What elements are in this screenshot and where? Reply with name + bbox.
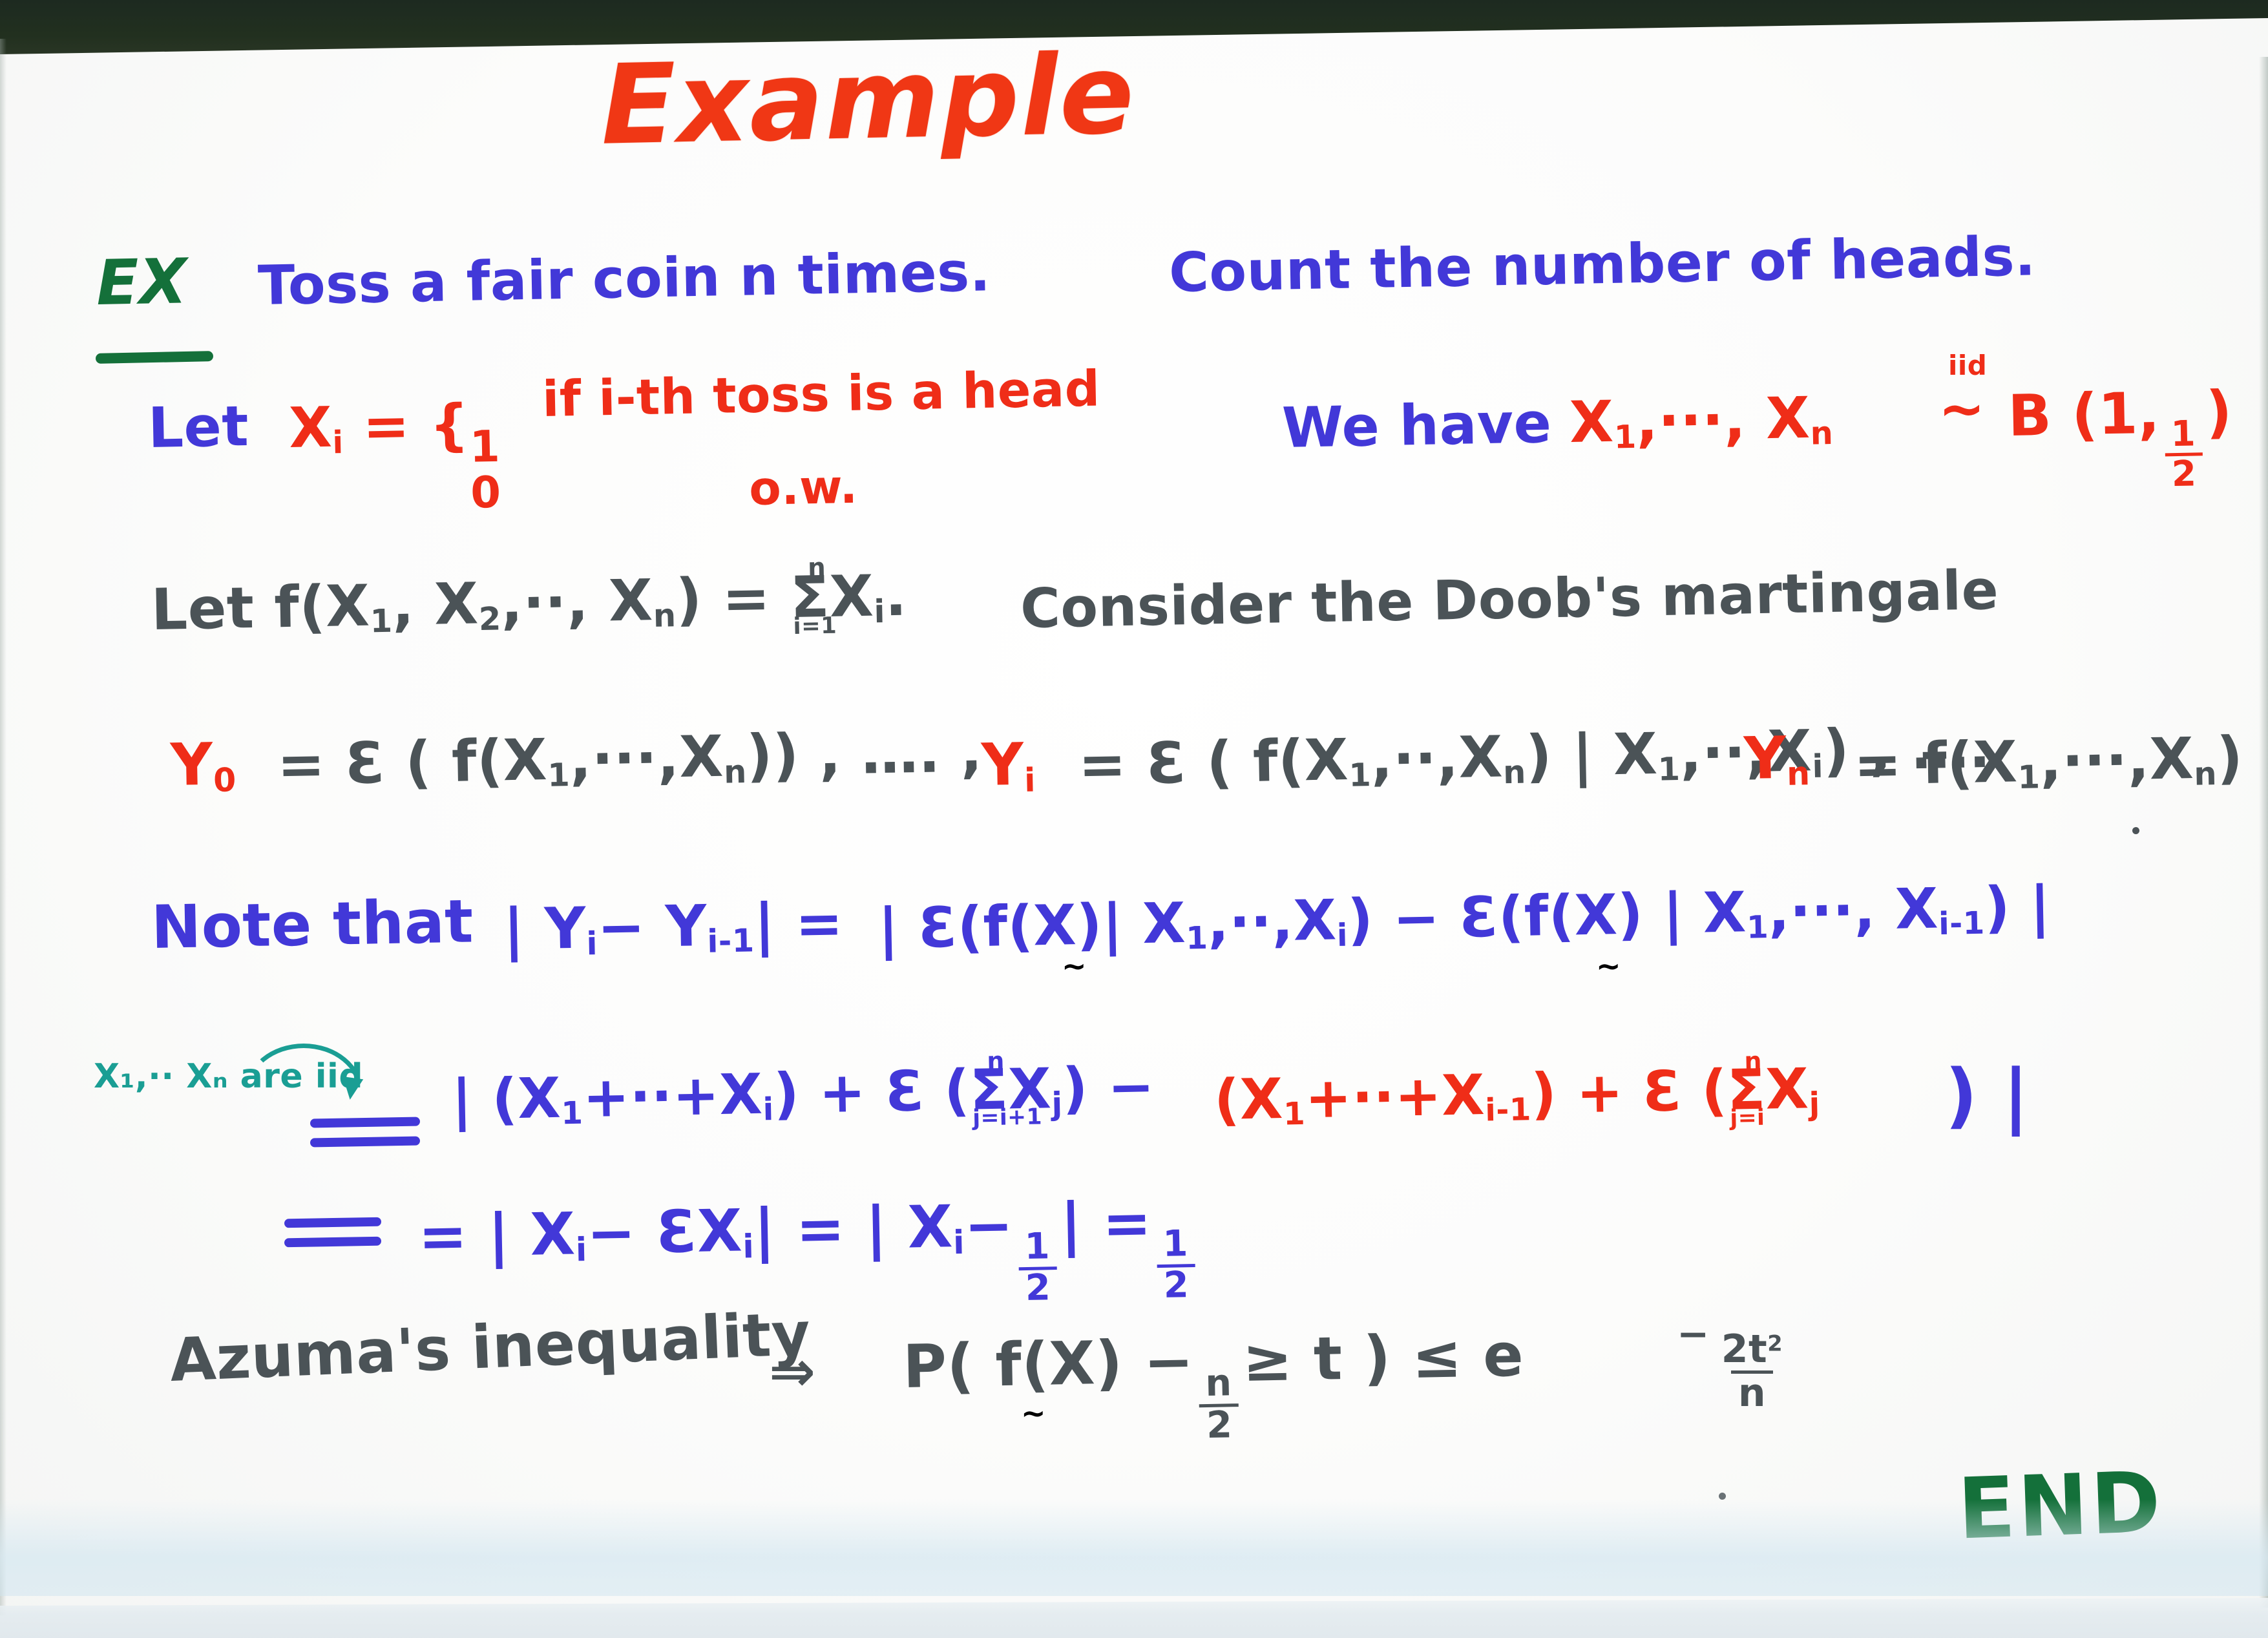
board-left-edge	[0, 39, 6, 1615]
l7-half-fraction: 12	[1018, 1228, 1058, 1307]
f-arg-sep: , X	[392, 570, 479, 638]
y0-x-subn: n	[724, 753, 748, 791]
n-over-2-fraction: n2	[1199, 1365, 1240, 1444]
l7-sub-i3: i	[953, 1223, 965, 1261]
l7-sub-i2: i	[742, 1227, 755, 1265]
case-value-1: 1	[469, 424, 501, 470]
l6-plus-expect: ) + Ɛ (	[773, 1058, 971, 1127]
sum-upper-limit: n	[808, 556, 826, 581]
y0-close: )) , …. ,	[746, 718, 983, 789]
line6-blue-expansion: | (X1+··+Xi) + Ɛ (Σnj=i+1Xj) −	[451, 1059, 1155, 1131]
y0-x-mid: ,···,X	[569, 723, 724, 793]
distributed-as-tilde: ~	[1938, 381, 1986, 437]
under-tilde-2: ~	[1596, 949, 1621, 983]
sum-body-sub: i	[874, 593, 886, 630]
l6r-sub1: 1	[1283, 1096, 1306, 1133]
f-sub-n: n	[653, 596, 677, 635]
xi-equals-brace: = {	[362, 393, 470, 459]
y0-x-sub1: 1	[547, 756, 571, 794]
line2-iid-vars: X1,···, Xn	[1569, 389, 1834, 454]
yi-cond-sub1: 1	[1657, 750, 1681, 788]
sum3-upper: n	[1744, 1049, 1762, 1074]
sum3-lower: j=i	[1730, 1107, 1765, 1129]
case-value-0: 0	[470, 470, 502, 516]
yi-x-sub1: 1	[1349, 756, 1372, 794]
exp-num-power: 2	[1767, 1330, 1783, 1356]
board-bottom-frame	[0, 1598, 2268, 1638]
l7-abs-close-eq: | =	[1060, 1189, 1152, 1259]
yi-x-mid: ,··,X	[1370, 723, 1504, 792]
summation-symbol-3: Σnj=i	[1727, 1062, 1766, 1118]
l6-minus: ) −	[1062, 1055, 1155, 1121]
exp-minus: −	[1677, 1312, 1710, 1357]
y-sub-0: 0	[213, 761, 237, 799]
rhs-second-expect: ) − Ɛ(f(X) | X	[1347, 880, 1747, 952]
sum2-body-sub: j	[1051, 1086, 1063, 1122]
example-label: EX	[96, 250, 187, 314]
line8-stray-dot	[1719, 1493, 1726, 1500]
yn-x-mid: ,···,X	[2039, 725, 2194, 795]
line1-count-text: Count the number of heads.	[1168, 229, 2036, 300]
l6-x-sub1: 1	[561, 1095, 583, 1132]
l7-result-den: 2	[1157, 1264, 1196, 1304]
summation-symbol-2: Σnj=i+1	[969, 1062, 1009, 1118]
yi-symbol: Yi	[981, 735, 1036, 797]
abs-close-eq: | =	[753, 890, 844, 958]
line3-f-definition: Let f(X1, X2,··, Xn) = Σni=1Xi.	[151, 567, 907, 642]
f-arg-sep2: ,··, X	[500, 567, 653, 636]
cases-column: 1 0	[469, 424, 501, 516]
f-sub-1: 1	[370, 602, 393, 640]
l6-x-sub-i: i	[762, 1091, 774, 1128]
yi-expect-open: = Ɛ ( f(X	[1078, 726, 1349, 798]
azuma-label: Azuma's inequality	[169, 1305, 812, 1391]
l7-minus-expect: − ƐX	[586, 1197, 743, 1268]
y0-symbol: Y0	[170, 735, 236, 797]
l7-abs-open: = | X	[418, 1200, 576, 1271]
annotation-arrowhead	[340, 1076, 363, 1101]
l6r-sub-i1: i-1	[1485, 1091, 1532, 1128]
rhs-close: ) |	[1984, 874, 2051, 940]
y0-expect-open: = Ɛ ( f(X	[277, 726, 548, 798]
y-i-sub: i	[586, 925, 598, 962]
board-right-edge	[2259, 57, 2268, 1608]
derivation-equals-mark-2	[284, 1218, 381, 1246]
let-f-open: Let f(X	[151, 572, 370, 643]
x-symbol: X	[1569, 388, 1614, 456]
y-sub-n: n	[1787, 754, 1811, 793]
line5-note-that: Note that	[151, 892, 474, 958]
derivation-equals-mark	[310, 1118, 420, 1146]
yi-x-subn: n	[1503, 753, 1527, 792]
sum2-upper: n	[987, 1049, 1005, 1074]
n-over-2-num: n	[1199, 1365, 1239, 1402]
rhs-mid-a: ,··,X	[1207, 888, 1337, 955]
minus-y: − Y	[596, 892, 708, 961]
whiteboard-surface: Example EX Toss a fair coin n times. Cou…	[0, 0, 2268, 1638]
y-i-1-sub: i-1	[707, 921, 755, 960]
summation-symbol: Σni=1	[790, 569, 830, 626]
bernoulli-close: )	[2205, 378, 2233, 445]
rhs-sub1: 1	[1186, 920, 1208, 957]
n-over-2-den: 2	[1199, 1403, 1239, 1444]
yi-cond-subi: i	[1812, 748, 1824, 785]
l6r-open: (X	[1213, 1067, 1284, 1133]
y-letter-i: Y	[981, 731, 1025, 799]
y0-definition: = Ɛ ( f(X1,···,Xn)) , …. ,	[277, 723, 983, 797]
implies-arrow-icon: ⇒	[769, 1344, 816, 1400]
under-tilde-3: ~	[1021, 1396, 1046, 1431]
half-denominator: 2	[2165, 453, 2203, 492]
line6-closing-bar: ) |	[1945, 1060, 2029, 1131]
half-numerator: 1	[2164, 415, 2202, 452]
sum3-body-sub: j	[1809, 1086, 1820, 1122]
line1-toss-text: Toss a fair coin n times.	[257, 244, 991, 313]
azuma-bound: P( f(X) −n2≥ t ) ≤ e	[903, 1326, 1526, 1450]
sum2-lower: j=i+1	[972, 1106, 1042, 1129]
ex-underline	[96, 351, 213, 364]
exponent-numerator: 2t2	[1714, 1330, 1790, 1369]
x-sub-n: n	[1810, 414, 1834, 452]
page-title: Example	[600, 39, 1136, 160]
y-letter-0: Y	[170, 731, 214, 799]
l7-result-num: 1	[1156, 1226, 1195, 1263]
l6-abs-open: | (X	[451, 1066, 562, 1133]
line3-consider-doob: Consider the Doob's martingale	[1020, 563, 1999, 636]
yn-f-open: = f(X	[1853, 728, 2018, 798]
yn-definition: = f(X1,···,Xn)	[1853, 729, 2243, 797]
line3-period: .	[885, 562, 908, 629]
line2-let: Let	[147, 399, 249, 456]
yi-cond-open: ) | X	[1525, 720, 1658, 790]
board-glare	[0, 1499, 2268, 1596]
line2-we-have: We have	[1281, 395, 1552, 456]
line5-rhs: | Ɛ(f(X)| X1,··,Xi) − Ɛ(f(X) | X1,···, X…	[877, 879, 2051, 960]
iid-label: iid	[1948, 352, 1987, 379]
l7-sub-i: i	[575, 1230, 587, 1268]
exponent-denominator: n	[1731, 1370, 1773, 1412]
exponent-fraction: 2t2 n	[1714, 1330, 1790, 1412]
prob-open: P( f(X) −	[903, 1327, 1195, 1402]
l7-result-fraction: 12	[1156, 1226, 1196, 1304]
sum3-body: X	[1765, 1056, 1809, 1122]
f-sub-2: 2	[478, 600, 501, 638]
line6-red-expansion: (X1+··+Xi-1) + Ɛ (Σnj=iXj	[1213, 1061, 1820, 1131]
xi-subscript: i	[332, 425, 344, 461]
line2-indicator-def: Xi = { 1 0	[288, 397, 501, 520]
y-letter-n: Y	[1743, 724, 1787, 793]
line2-condition-head: if i-th toss is a head	[542, 364, 1101, 424]
l7-close-open: | = | X	[753, 1193, 954, 1265]
x-list-mid: ,···, X	[1635, 384, 1811, 454]
rhs-mid-c: ,···, X	[1768, 877, 1939, 945]
line2-condition-otherwise: o.w.	[749, 463, 858, 512]
geq-exp: ≥ t ) ≤ e	[1242, 1321, 1524, 1395]
exp-num-text: 2t	[1721, 1327, 1767, 1372]
yn-x-subn: n	[2194, 755, 2218, 793]
rhs-sub-i: i	[1336, 918, 1348, 954]
l7-half-num: 1	[1018, 1228, 1056, 1265]
line7-simplification: = | Xi− ƐXi| = | Xi−12| =12	[418, 1193, 1201, 1318]
l6r-plus-expect: ) + Ɛ (	[1530, 1058, 1728, 1127]
l6r-plus-dots: +··+X	[1305, 1063, 1486, 1131]
abs-open-y: | Y	[503, 895, 587, 963]
y-sub-i: i	[1024, 761, 1036, 799]
sum-lower-limit: i=1	[793, 614, 837, 638]
yn-close: )	[2216, 724, 2244, 791]
yn-x-sub1: 1	[2017, 758, 2041, 796]
line5-lhs: | Yi− Yi-1| =	[503, 895, 844, 961]
bernoulli-open: B (1,	[2008, 380, 2161, 449]
under-tilde-1: ~	[1062, 949, 1087, 983]
half-fraction: 12	[2164, 415, 2203, 492]
yn-symbol: Yn	[1743, 729, 1811, 791]
exponent-expression: − 2t2 n	[1677, 1315, 1794, 1412]
f-close-eq: ) =	[675, 565, 771, 633]
rhs-sub1b: 1	[1747, 909, 1769, 946]
rhs-expect-open: | Ɛ(f(X)| X	[877, 891, 1186, 961]
l7-minus: −	[963, 1192, 1014, 1260]
line4-stray-dot	[2132, 827, 2139, 834]
bernoulli-distribution: B (1,12)	[2008, 383, 2234, 494]
rhs-sub-i1: i-1	[1938, 905, 1986, 942]
end-label: END	[1957, 1460, 2165, 1551]
l6-plus-dots: +··+X	[582, 1062, 763, 1130]
x-sub-1: 1	[1613, 418, 1637, 456]
xi-symbol: X	[288, 395, 333, 461]
l7-half-den: 2	[1018, 1266, 1058, 1307]
